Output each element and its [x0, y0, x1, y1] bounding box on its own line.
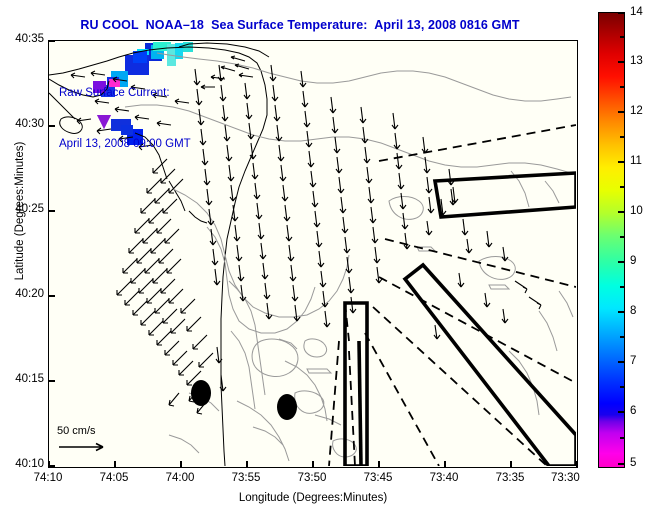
x-tick-label: 73:35: [485, 472, 535, 484]
x-tick-mark: [246, 461, 248, 468]
colorbar-minor-tick: [620, 136, 625, 138]
temperature-colorbar[interactable]: [598, 12, 625, 468]
y-tick-mark: [48, 380, 55, 382]
velocity-scale-legend: 50 cm/s: [57, 425, 113, 453]
colorbar-tick-label: 6: [630, 405, 636, 417]
annotation-line-2: April 13, 2008 09:00 GMT: [59, 136, 191, 153]
colorbar-tick-mark: [618, 161, 625, 163]
y-tick-mark: [48, 295, 55, 297]
colorbar-tick-mark: [618, 61, 625, 63]
colorbar-minor-tick: [620, 286, 625, 288]
x-tick-label: 73:40: [419, 472, 469, 484]
x-tick-label: 74:00: [155, 472, 205, 484]
colorbar-tick-label: 10: [630, 205, 643, 217]
colorbar-tick-mark: [618, 111, 625, 113]
x-tick-mark: [576, 461, 578, 468]
colorbar-tick-label: 9: [630, 255, 636, 267]
y-tick-mark: [48, 40, 55, 42]
right-arrow-icon: [57, 439, 113, 453]
y-axis-label: Latitude (Degrees:Minutes): [14, 111, 26, 311]
y-tick-mark: [48, 125, 55, 127]
colorbar-minor-tick: [620, 386, 625, 388]
colorbar-tick-mark: [618, 411, 625, 413]
x-tick-mark: [312, 461, 314, 468]
colorbar-tick-mark: [618, 463, 625, 465]
x-tick-label: 73:30: [551, 472, 601, 484]
x-tick-label: 73:45: [353, 472, 403, 484]
y-tick-label: 40:35: [0, 33, 44, 45]
colorbar-tick-label: 11: [630, 155, 642, 167]
colorbar-minor-tick: [620, 186, 625, 188]
colorbar-tick-label: 13: [630, 55, 643, 67]
colorbar-tick-label: 7: [630, 355, 636, 367]
y-tick-mark: [48, 210, 55, 212]
current-annotation: Raw Surface Current: April 13, 2008 09:0…: [59, 51, 191, 187]
colorbar-tick-label: 5: [630, 457, 636, 469]
x-tick-mark: [114, 461, 116, 468]
colorbar-tick-mark: [618, 261, 625, 263]
colorbar-minor-tick: [620, 86, 625, 88]
x-tick-label: 73:55: [221, 472, 271, 484]
velocity-scale-label: 50 cm/s: [57, 425, 113, 437]
x-tick-mark: [510, 461, 512, 468]
colorbar-tick-label: 12: [630, 105, 643, 117]
colorbar-tick-mark: [618, 211, 625, 213]
colorbar-tick-mark: [618, 311, 625, 313]
x-tick-mark: [48, 461, 50, 468]
colorbar-minor-tick: [620, 437, 625, 439]
colorbar-minor-tick: [620, 336, 625, 338]
x-tick-label: 74:05: [89, 472, 139, 484]
colorbar-tick-label: 8: [630, 305, 636, 317]
colorbar-tick-mark: [618, 12, 625, 14]
colorbar-tick-label: 14: [630, 6, 643, 18]
x-tick-label: 74:10: [23, 472, 73, 484]
y-tick-label: 40:10: [0, 458, 44, 470]
x-tick-mark: [378, 461, 380, 468]
y-tick-label: 40:15: [0, 373, 44, 385]
x-tick-label: 73:50: [287, 472, 337, 484]
colorbar-minor-tick: [620, 36, 625, 38]
colorbar-tick-mark: [618, 361, 625, 363]
x-tick-mark: [180, 461, 182, 468]
x-axis-label: Longitude (Degrees:Minutes): [48, 492, 578, 504]
x-tick-mark: [444, 461, 446, 468]
annotation-line-1: Raw Surface Current:: [59, 85, 191, 102]
colorbar-minor-tick: [620, 236, 625, 238]
